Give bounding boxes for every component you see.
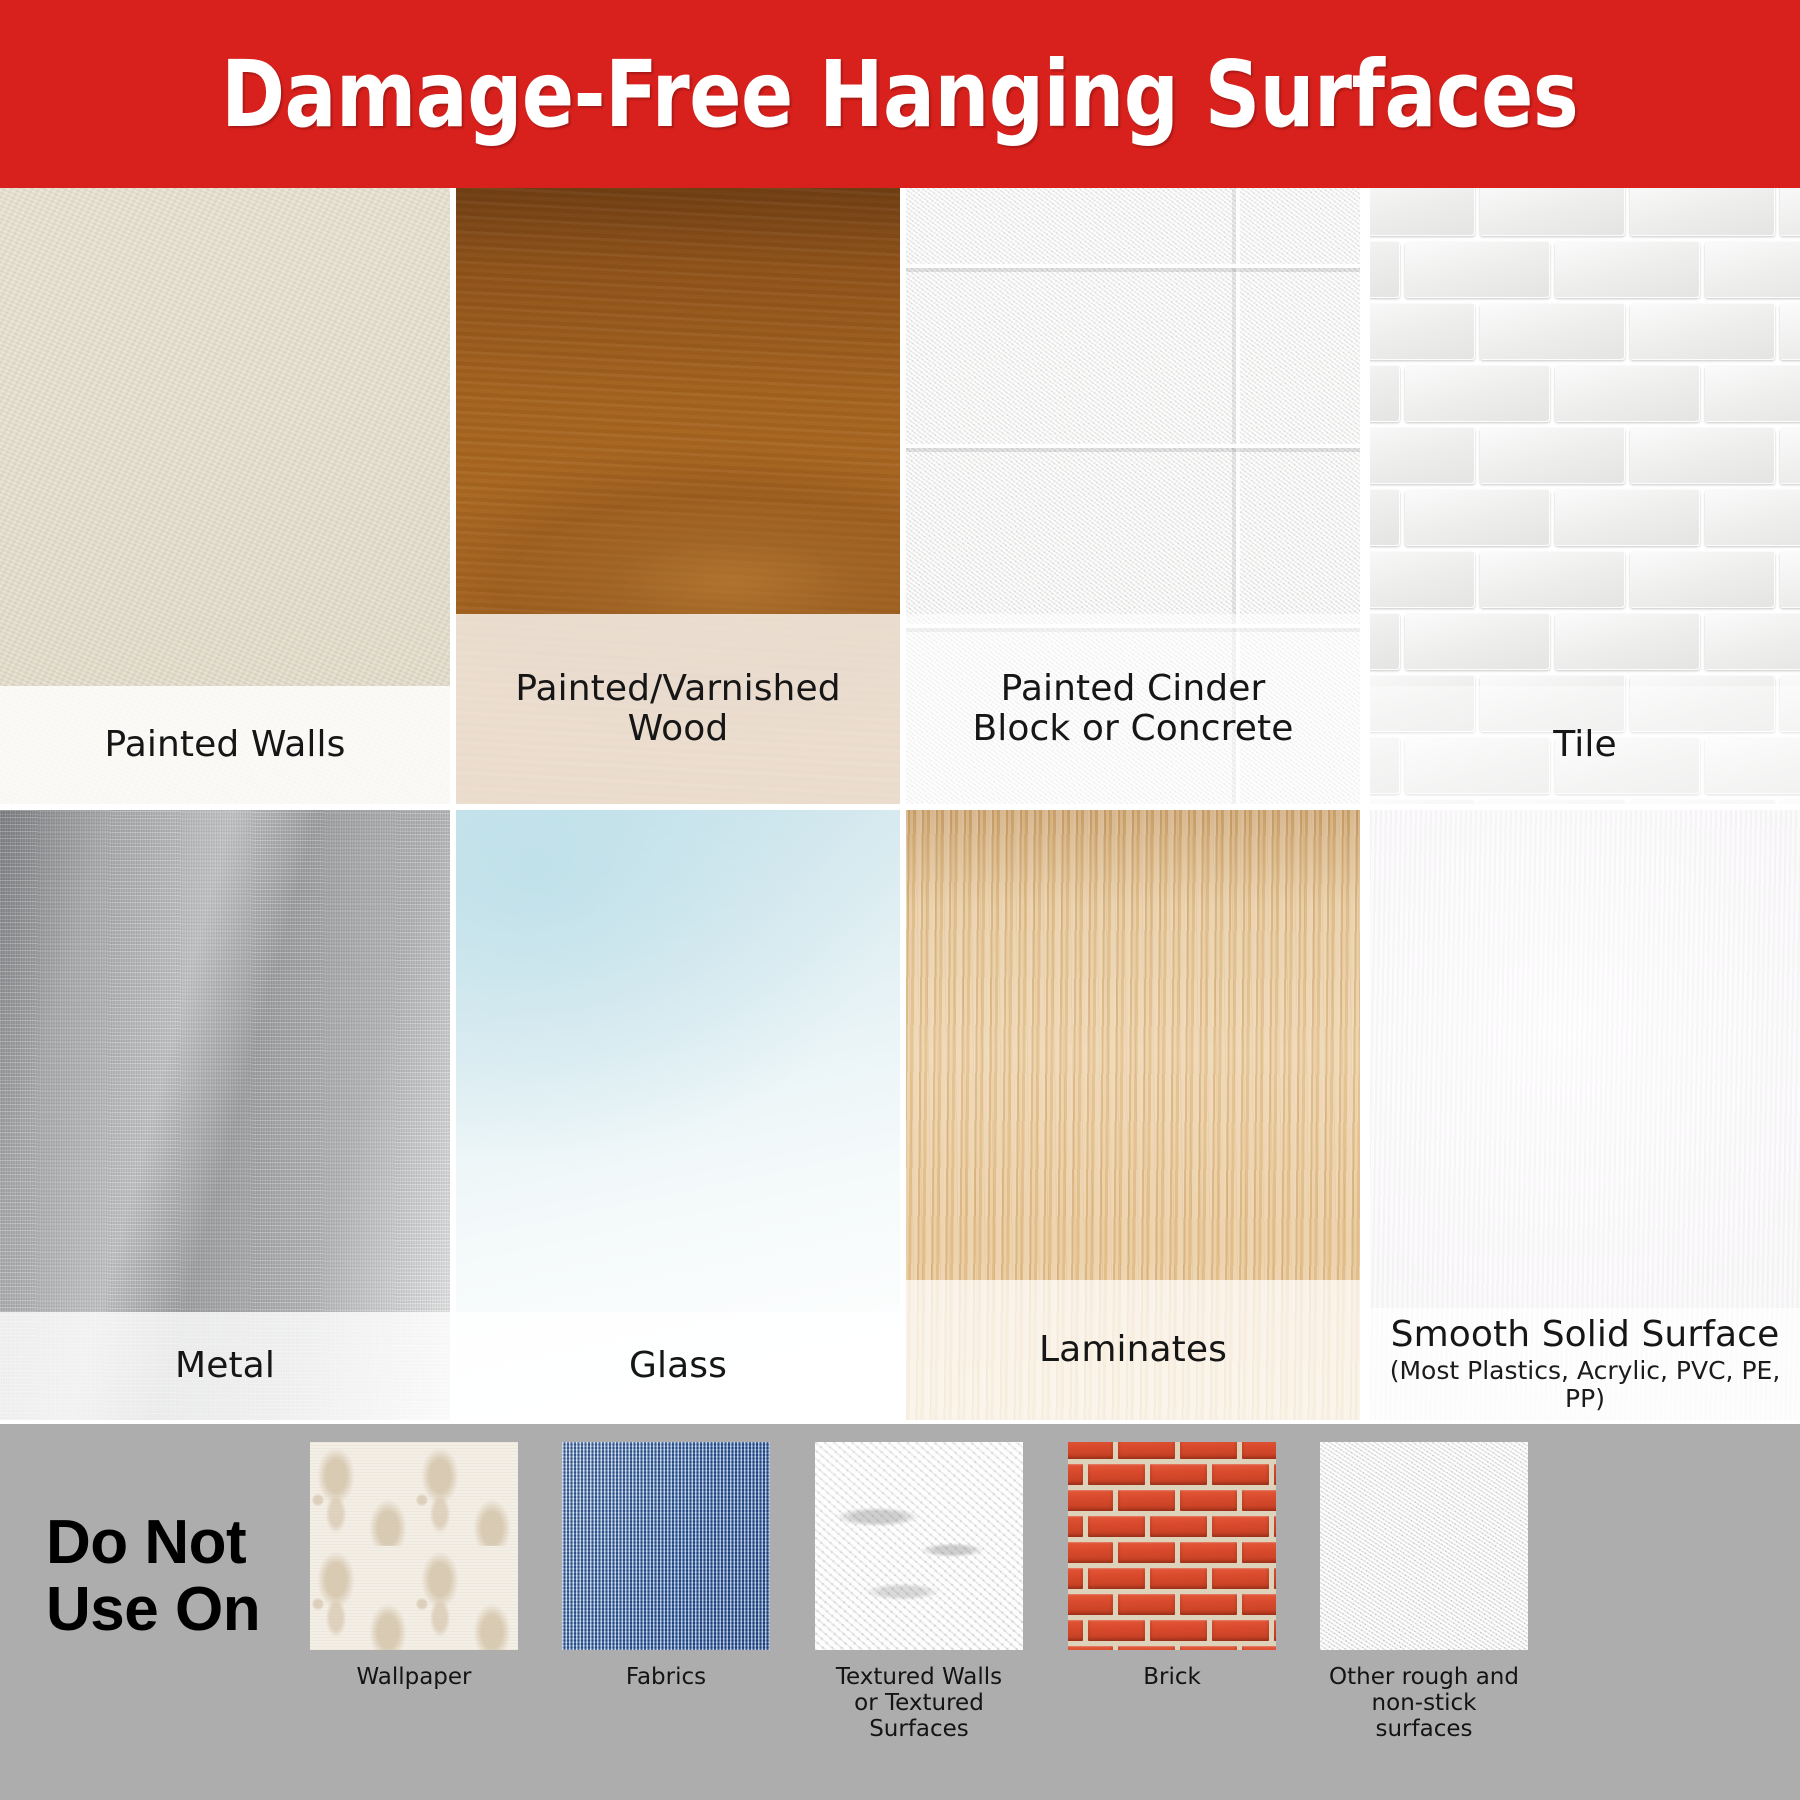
- tile-unit: [1405, 614, 1550, 670]
- brick-row: [1068, 1566, 1276, 1592]
- do-not-use-item-fabrics[interactable]: Fabrics: [562, 1442, 770, 1690]
- brick-row: [1068, 1644, 1276, 1650]
- brick-unit: [1118, 1594, 1175, 1615]
- brick-row: [1068, 1540, 1276, 1566]
- brick-unit: [1212, 1620, 1269, 1641]
- surface-label-text: Painted Walls: [105, 725, 346, 765]
- brick-row: [1068, 1442, 1276, 1462]
- tile-row: [1370, 488, 1800, 550]
- caption-line2: or Textured Surfaces: [815, 1690, 1023, 1742]
- brick-unit: [1150, 1620, 1207, 1641]
- do-not-use-caption-fabrics: Fabrics: [562, 1664, 770, 1690]
- rough-stucco-texture: [1320, 1442, 1528, 1650]
- brick-unit: [1068, 1594, 1113, 1615]
- brick-unit: [1212, 1516, 1269, 1537]
- brick-unit: [1242, 1542, 1276, 1563]
- brick-unit: [1150, 1568, 1207, 1589]
- tile-unit: [1780, 188, 1800, 236]
- surface-label-text: Metal: [175, 1346, 275, 1386]
- caption-line1: Wallpaper: [310, 1664, 518, 1690]
- denim-fabric-texture: [562, 1442, 770, 1650]
- surface-label-text-line1: Painted Cinder: [1001, 669, 1266, 709]
- caption-line1: Brick: [1068, 1664, 1276, 1690]
- brick-unit: [1242, 1646, 1276, 1650]
- tile-unit: [1405, 366, 1550, 422]
- do-not-use-item-textured-walls[interactable]: Textured Walls or Textured Surfaces: [815, 1442, 1023, 1743]
- brick-unit: [1242, 1594, 1276, 1615]
- tile-unit: [1480, 428, 1625, 484]
- tile-unit: [1370, 188, 1475, 236]
- tile-unit: [1555, 614, 1700, 670]
- brick-unit: [1274, 1568, 1276, 1589]
- surface-cell-tile[interactable]: Tile: [1370, 188, 1800, 804]
- tile-row: [1370, 188, 1800, 240]
- brick-unit: [1212, 1568, 1269, 1589]
- brick-unit: [1088, 1516, 1145, 1537]
- do-not-use-caption-wallpaper: Wallpaper: [310, 1664, 518, 1690]
- tile-unit: [1705, 242, 1800, 298]
- surface-label-cinder-block: Painted Cinder Block or Concrete: [906, 614, 1360, 804]
- title-banner: Damage-Free Hanging Surfaces: [0, 0, 1800, 188]
- surface-cell-glass[interactable]: Glass: [456, 810, 900, 1420]
- brick-unit: [1088, 1620, 1145, 1641]
- tile-row: [1370, 364, 1800, 426]
- surface-label-glass: Glass: [456, 1312, 900, 1420]
- brick-row: [1068, 1462, 1276, 1488]
- tile-unit: [1370, 242, 1400, 298]
- brick-unit: [1088, 1464, 1145, 1485]
- brick-unit: [1180, 1442, 1237, 1459]
- surface-label-text-line2: Block or Concrete: [973, 709, 1294, 749]
- tile-unit: [1630, 188, 1775, 236]
- do-not-use-heading: Do Not Use On: [46, 1510, 316, 1644]
- caption-line2: non-stick surfaces: [1320, 1690, 1528, 1742]
- surface-cell-cinder-block[interactable]: Painted Cinder Block or Concrete: [906, 188, 1360, 804]
- tile-unit: [1630, 552, 1775, 608]
- surface-label-text: Glass: [629, 1346, 727, 1386]
- surface-label-painted-wood: Painted/Varnished Wood: [456, 614, 900, 804]
- approved-surfaces-grid: Painted Walls Painted/Varnished Wood Pai…: [0, 188, 1800, 1420]
- do-not-use-section: Do Not Use On Wallpaper Fabrics Textured…: [0, 1424, 1800, 1800]
- tile-unit: [1480, 552, 1625, 608]
- brick-unit: [1274, 1620, 1276, 1641]
- brick-unit: [1212, 1464, 1269, 1485]
- brick-unit: [1180, 1594, 1237, 1615]
- brick-unit: [1068, 1620, 1083, 1641]
- tile-row: [1370, 240, 1800, 302]
- tile-unit: [1555, 242, 1700, 298]
- brick-unit: [1118, 1542, 1175, 1563]
- tile-unit: [1555, 366, 1700, 422]
- damask-wallpaper-texture: [310, 1442, 518, 1650]
- tile-unit: [1370, 614, 1400, 670]
- brick-unit: [1242, 1490, 1276, 1511]
- brick-unit: [1068, 1490, 1113, 1511]
- tile-unit: [1705, 490, 1800, 546]
- brick-unit: [1068, 1516, 1083, 1537]
- brick-unit: [1088, 1568, 1145, 1589]
- caption-line1: Other rough and: [1320, 1664, 1528, 1690]
- tile-row: [1370, 302, 1800, 364]
- tile-unit: [1370, 366, 1400, 422]
- do-not-use-item-brick[interactable]: Brick: [1068, 1442, 1276, 1690]
- brick-unit: [1118, 1490, 1175, 1511]
- do-not-use-caption-brick: Brick: [1068, 1664, 1276, 1690]
- surface-label-text-line2: Wood: [628, 709, 729, 749]
- surface-cell-smooth-solid[interactable]: Smooth Solid Surface (Most Plastics, Acr…: [1370, 810, 1800, 1420]
- tile-unit: [1370, 304, 1475, 360]
- tile-unit: [1405, 490, 1550, 546]
- tile-unit: [1705, 366, 1800, 422]
- red-brick-texture: [1068, 1442, 1276, 1650]
- infographic-root: Damage-Free Hanging Surfaces Painted Wal…: [0, 0, 1800, 1800]
- tile-unit: [1555, 490, 1700, 546]
- tile-unit: [1630, 304, 1775, 360]
- brick-unit: [1150, 1464, 1207, 1485]
- surface-label-text: Tile: [1553, 725, 1616, 765]
- do-not-use-caption-rough: Other rough and non-stick surfaces: [1320, 1664, 1528, 1743]
- do-not-use-caption-textured-walls: Textured Walls or Textured Surfaces: [815, 1664, 1023, 1743]
- brick-row: [1068, 1514, 1276, 1540]
- tile-unit: [1630, 428, 1775, 484]
- brick-row: [1068, 1592, 1276, 1618]
- brick-unit: [1180, 1646, 1237, 1650]
- brick-unit: [1068, 1464, 1083, 1485]
- tile-row: [1370, 550, 1800, 612]
- brick-row: [1068, 1618, 1276, 1644]
- tile-unit: [1370, 552, 1475, 608]
- surface-cell-painted-walls[interactable]: Painted Walls: [0, 188, 450, 804]
- brick-unit: [1118, 1442, 1175, 1459]
- surface-cell-laminates[interactable]: Laminates: [906, 810, 1360, 1420]
- do-not-use-heading-line2: Use On: [46, 1577, 316, 1644]
- brick-unit: [1180, 1542, 1237, 1563]
- surface-label-text-line1: Painted/Varnished: [515, 669, 840, 709]
- tile-unit: [1780, 304, 1800, 360]
- tile-unit: [1480, 304, 1625, 360]
- tile-row: [1370, 426, 1800, 488]
- brick-unit: [1068, 1646, 1113, 1650]
- caption-line1: Fabrics: [562, 1664, 770, 1690]
- textured-plaster-texture: [815, 1442, 1023, 1650]
- brick-unit: [1180, 1490, 1237, 1511]
- tile-unit: [1780, 428, 1800, 484]
- tile-unit: [1705, 614, 1800, 670]
- brick-row: [1068, 1488, 1276, 1514]
- surface-label-laminates: Laminates: [906, 1280, 1360, 1420]
- brick-unit: [1068, 1568, 1083, 1589]
- surface-label-painted-walls: Painted Walls: [0, 686, 450, 804]
- do-not-use-heading-line1: Do Not: [46, 1510, 316, 1577]
- brick-unit: [1068, 1442, 1113, 1459]
- surface-label-text: Laminates: [1039, 1330, 1227, 1370]
- surface-cell-metal[interactable]: Metal: [0, 810, 450, 1420]
- brick-unit: [1274, 1516, 1276, 1537]
- surface-label-metal: Metal: [0, 1312, 450, 1420]
- page-title: Damage-Free Hanging Surfaces: [221, 41, 1578, 148]
- do-not-use-item-wallpaper[interactable]: Wallpaper: [310, 1442, 518, 1690]
- caption-line1: Textured Walls: [815, 1664, 1023, 1690]
- surface-cell-painted-wood[interactable]: Painted/Varnished Wood: [456, 188, 900, 804]
- brick-unit: [1150, 1516, 1207, 1537]
- surface-label-text: Smooth Solid Surface: [1391, 1315, 1780, 1355]
- tile-unit: [1480, 188, 1625, 236]
- tile-unit: [1780, 552, 1800, 608]
- do-not-use-item-rough[interactable]: Other rough and non-stick surfaces: [1320, 1442, 1528, 1743]
- tile-unit: [1370, 428, 1475, 484]
- surface-label-smooth-solid: Smooth Solid Surface (Most Plastics, Acr…: [1370, 1308, 1800, 1420]
- surface-sublabel-text: (Most Plastics, Acrylic, PVC, PE, PP): [1376, 1357, 1794, 1413]
- tile-unit: [1370, 490, 1400, 546]
- brick-unit: [1118, 1646, 1175, 1650]
- tile-row: [1370, 612, 1800, 674]
- brick-unit: [1068, 1542, 1113, 1563]
- brick-unit: [1242, 1442, 1276, 1459]
- brick-unit: [1274, 1464, 1276, 1485]
- tile-unit: [1405, 242, 1550, 298]
- surface-label-tile: Tile: [1370, 686, 1800, 804]
